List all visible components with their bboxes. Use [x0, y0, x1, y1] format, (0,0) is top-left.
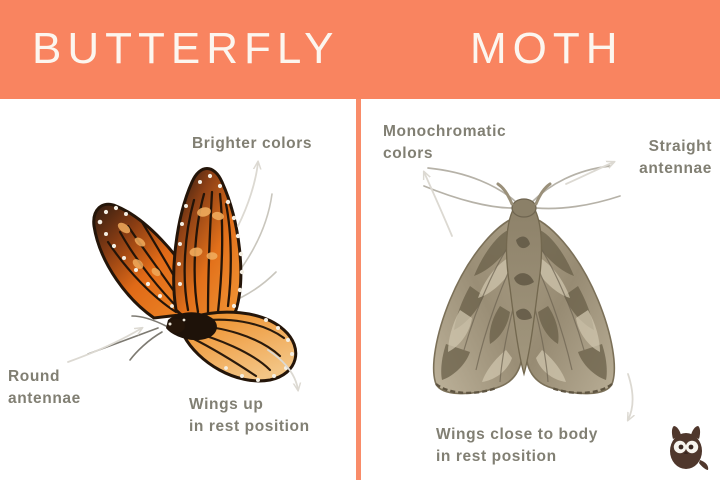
owl-icon — [670, 426, 708, 470]
label-monochromatic-colors: Monochromatic colors — [383, 121, 506, 165]
butterfly-body — [166, 312, 217, 340]
page-title-moth: MOTH — [470, 18, 624, 80]
butterfly-wing-upper-right — [174, 169, 244, 325]
vertical-divider — [356, 99, 361, 480]
butterfly-legs — [88, 316, 166, 360]
label-wings-close-to-body: Wings close to body in rest position — [436, 424, 598, 468]
label-straight-antennae: Straight antennae — [560, 136, 712, 180]
moth-illustration — [412, 160, 637, 405]
owl-mascot-logo — [664, 422, 712, 474]
label-brighter-colors: Brighter colors — [192, 133, 312, 155]
butterfly-illustration — [80, 160, 315, 385]
page-title-butterfly: BUTTERFLY — [32, 18, 339, 80]
label-wings-up: Wings up in rest position — [189, 394, 310, 438]
infographic-page: BUTTERFLY MOTH — [0, 0, 720, 480]
label-round-antennae: Round antennae — [8, 366, 81, 410]
